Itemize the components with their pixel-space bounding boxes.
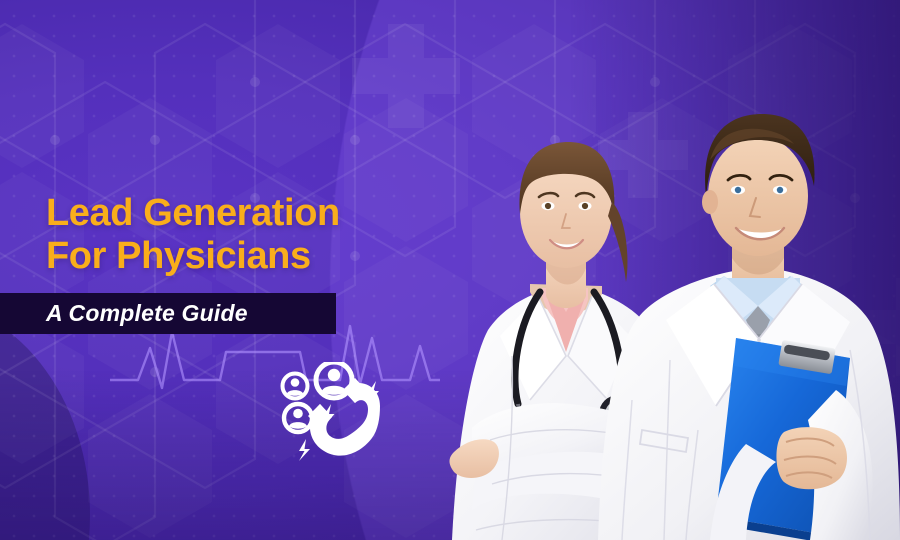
page-title: Lead Generation For Physicians xyxy=(46,192,340,278)
two-doctors-photo xyxy=(380,0,900,540)
person-avatar-small-1 xyxy=(283,374,308,399)
lead-magnet-icon xyxy=(276,362,394,466)
male-doctor xyxy=(598,114,900,540)
banner-graphic: Lead Generation For Physicians A Complet… xyxy=(0,0,900,540)
person-avatar-small-2 xyxy=(284,404,312,432)
subtitle-band: A Complete Guide xyxy=(0,293,336,334)
subtitle-text: A Complete Guide xyxy=(46,300,248,327)
headline-line-1: Lead Generation xyxy=(46,192,340,235)
curved-dark-arc xyxy=(0,300,90,540)
headline-line-2: For Physicians xyxy=(46,235,340,278)
lightning-bolt-3 xyxy=(299,439,310,461)
